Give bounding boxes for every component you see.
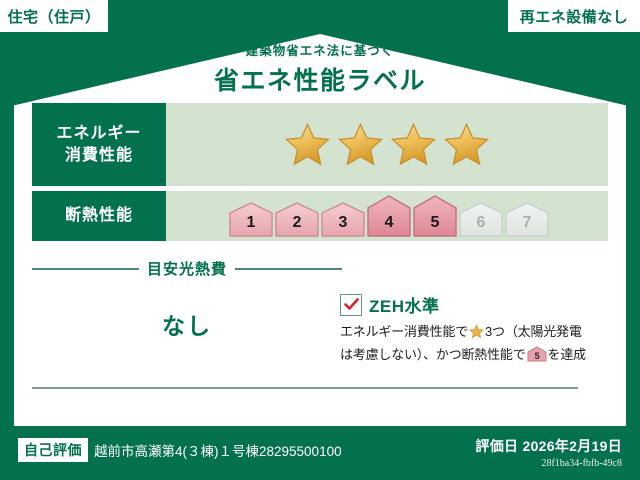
insulation-level-7: 7 [505,202,549,237]
star-icon [337,122,384,167]
energy-performance-label: エネルギー 消費性能 [32,103,166,186]
insulation-scale-area: 1234567 [166,191,608,241]
energy-label-line1: エネルギー [56,123,141,145]
energy-performance-row: エネルギー 消費性能 [32,103,608,186]
energy-performance-stars-area [166,103,608,186]
property-address: 越前市高瀬第4(３棟)１号棟28295500100 [94,440,342,460]
zeh-title: ZEH水準 [369,292,440,317]
insulation-level-number: 4 [367,214,411,232]
insulation-level-4: 4 [367,195,411,237]
utility-cost-heading: 目安光熱費 [32,258,342,279]
insulation-level-number: 3 [321,214,365,232]
zeh-desc-part2: 3つ（太陽光発電 [485,324,582,339]
check-icon [344,298,359,311]
building-type-tag: 住宅（住戸） [0,0,108,32]
title-main: 省エネ性能ラベル [0,61,640,97]
insulation-level-number: 2 [275,214,319,232]
zeh-checkbox[interactable] [340,294,362,316]
star-rating [284,122,490,167]
insulation-performance-row: 断熱性能 1234567 [32,191,608,241]
svg-text:5: 5 [534,351,539,361]
insulation-level-6: 6 [459,202,503,237]
footer-right: 評価日 2026年2月19日 28f1ba34-fbfb-49c8 [475,436,622,469]
insulation-level-scale: 1234567 [225,195,549,237]
insulation-level-1: 1 [229,202,273,237]
heading-rule-left [32,268,139,270]
zeh-heading: ZEH水準 [340,292,612,317]
insulation-level-number: 1 [229,214,273,232]
evaluation-date: 評価日 2026年2月19日 [475,436,622,456]
insulation-label-text: 断熱性能 [65,205,133,227]
energy-label-line2: 消費性能 [65,145,133,167]
insulation-level-number: 7 [505,214,549,232]
title-subtitle: 建築物省エネ法に基づく [0,40,640,59]
star-icon [390,122,437,167]
inline-star-icon [469,324,484,345]
insulation-level-number: 5 [413,214,457,232]
renewable-energy-tag: 再エネ設備なし [508,0,640,32]
zeh-standard-section: ZEH水準 エネルギー消費性能で 3つ（太陽光発電 は考慮しない）、かつ断熱性能… [340,292,612,368]
insulation-level-2: 2 [275,202,319,237]
zeh-desc-part3: は考慮しない）、かつ断熱性能で [340,347,526,362]
insulation-level-3: 3 [321,202,365,237]
footer-left: 自己評価 越前市高瀬第4(３棟)１号棟28295500100 [18,438,342,462]
star-icon [284,122,331,167]
heading-rule-right [235,268,342,270]
inline-house-badge: 5 [527,346,547,368]
utility-cost-section: 目安光熱費 なし [32,258,342,341]
zeh-description: エネルギー消費性能で 3つ（太陽光発電 は考慮しない）、かつ断熱性能で 5 を達… [340,322,612,368]
utility-cost-heading-text: 目安光熱費 [147,258,227,279]
zeh-desc-part1: エネルギー消費性能で [340,324,468,339]
label-title-block: 建築物省エネ法に基づく 省エネ性能ラベル [0,40,640,97]
self-evaluation-badge: 自己評価 [18,438,88,462]
footer-divider [32,387,578,389]
insulation-level-5: 5 [413,195,457,237]
zeh-desc-part4: を達成 [548,347,586,362]
label-footer: 自己評価 越前市高瀬第4(３棟)１号棟28295500100 評価日 2026年… [0,432,640,480]
insulation-level-number: 6 [459,214,503,232]
star-icon [443,122,490,167]
insulation-performance-label: 断熱性能 [32,191,166,241]
label-hash-id: 28f1ba34-fbfb-49c8 [475,458,622,469]
utility-cost-value: なし [32,307,342,341]
